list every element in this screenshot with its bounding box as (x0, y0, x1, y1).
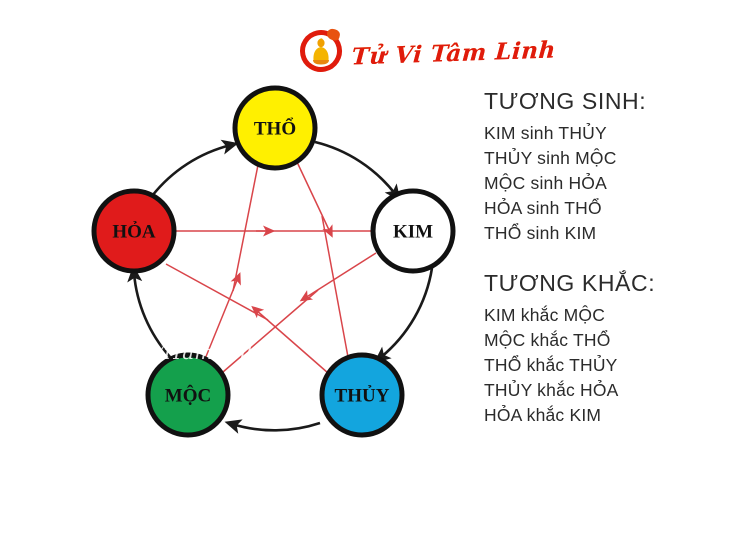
legend-line-khac-2: MỘC khắc THỔ (484, 328, 734, 353)
legend-line-khac-4: THỦY khắc HỎA (484, 378, 734, 403)
sinh-edge-hoa-tho (152, 145, 231, 196)
legend-heading-sinh: TƯƠNG SINH: (484, 88, 734, 115)
legend-line-sinh-4: HỎA sinh THỔ (484, 196, 734, 221)
legend-line-khac-5: HỎA khắc KIM (484, 403, 734, 428)
diagram-svg: THỔ KIM THỦY MỘC HỎA (60, 70, 480, 470)
node-moc[interactable]: MỘC (148, 355, 228, 435)
node-kim[interactable]: KIM (373, 191, 453, 271)
khac-edges-group (166, 162, 376, 373)
khac-edge-tho-thuy (297, 162, 348, 357)
buddha-figure-icon (311, 38, 331, 66)
logo-wordmark: Tử Vi Tâm Linh (351, 36, 557, 70)
node-label-thuy: THỦY (335, 385, 390, 407)
legend-line-sinh-5: THỔ sinh KIM (484, 221, 734, 246)
five-elements-diagram: THỔ KIM THỦY MỘC HỎA (60, 70, 480, 470)
node-tho[interactable]: THỔ (235, 88, 315, 168)
sinh-edge-tho-kim (315, 142, 396, 195)
legend-line-sinh-2: THỦY sinh MỘC (484, 146, 734, 171)
sinh-edge-kim-thuy (380, 268, 432, 358)
node-thuy[interactable]: THỦY (322, 355, 402, 435)
node-label-kim: KIM (393, 222, 433, 243)
five-elements-infographic: Tử Vi Tâm Linh (0, 0, 750, 543)
node-label-hoa: HỎA (112, 221, 156, 243)
sinh-edge-thuy-moc (232, 423, 320, 430)
sinh-edge-moc-hoa (134, 273, 170, 357)
legend-line-sinh-3: MỘC sinh HỎA (484, 171, 734, 196)
legend-panel: TƯƠNG SINH: KIM sinh THỦY THỦY sinh MỘC … (484, 88, 734, 452)
node-label-moc: MỘC (165, 385, 211, 407)
khac-edge-moc-tho (205, 165, 258, 359)
legend-block-khac: TƯƠNG KHẮC: KIM khắc MỘC MỘC khắc THỔ TH… (484, 270, 734, 428)
legend-heading-khac: TƯƠNG KHẮC: (484, 270, 734, 297)
legend-line-khac-1: KIM khắc MỘC (484, 303, 734, 328)
node-hoa[interactable]: HỎA (94, 191, 174, 271)
node-label-tho: THỔ (254, 118, 296, 140)
legend-block-sinh: TƯƠNG SINH: KIM sinh THỦY THỦY sinh MỘC … (484, 88, 734, 246)
legend-line-sinh-1: KIM sinh THỦY (484, 121, 734, 146)
legend-line-khac-3: THỔ khắc THỦY (484, 353, 734, 378)
